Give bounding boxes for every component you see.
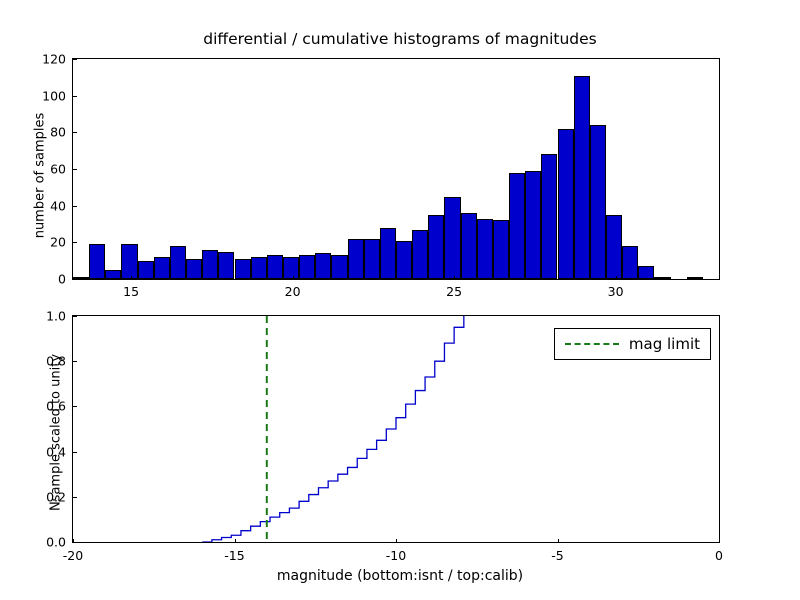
histogram-bar: [461, 213, 477, 279]
y-tick-mark: [73, 361, 77, 362]
y-tick-label: 60: [26, 162, 66, 177]
y-tick-label: 0.0: [26, 535, 66, 550]
histogram-bar: [412, 230, 428, 280]
histogram-bar: [202, 250, 218, 279]
y-tick-label: 120: [26, 52, 66, 67]
histogram-bar: [444, 197, 460, 280]
x-tick-mark: [131, 276, 132, 280]
x-tick-label: -5: [551, 548, 563, 563]
histogram-bar: [396, 241, 412, 280]
y-tick-label: 20: [26, 235, 66, 250]
y-tick-label: 0.4: [26, 444, 66, 459]
cumulative-histogram-axes: mag limit: [72, 315, 720, 543]
histogram-bar: [428, 215, 444, 279]
histogram-bar: [687, 277, 703, 279]
histogram-bar: [121, 244, 137, 279]
histogram-bar: [331, 255, 347, 279]
chart-title: differential / cumulative histograms of …: [0, 30, 800, 48]
histogram-bar: [89, 244, 105, 279]
histogram-bar: [283, 257, 299, 279]
histogram-bar: [622, 246, 638, 279]
y-tick-label: 0: [26, 272, 66, 287]
y-tick-mark: [73, 132, 77, 133]
y-tick-label: 40: [26, 198, 66, 213]
x-tick-label: -15: [224, 548, 244, 563]
legend-dash-icon: [565, 337, 619, 351]
y-tick-mark: [73, 497, 77, 498]
bottom-axis-ylabel: Nsample scaled to unity: [49, 313, 64, 553]
histogram-bar: [477, 219, 493, 280]
histogram-bar: [315, 253, 331, 279]
x-tick-label: -20: [63, 548, 83, 563]
x-tick-mark: [558, 539, 559, 543]
y-tick-mark: [73, 406, 77, 407]
histogram-bar: [235, 259, 251, 279]
x-tick-label: -10: [386, 548, 406, 563]
x-tick-mark: [616, 276, 617, 280]
histogram-bar: [170, 246, 186, 279]
y-tick-mark: [73, 206, 77, 207]
histogram-bar: [267, 255, 283, 279]
y-tick-mark: [73, 279, 77, 280]
histogram-bar: [606, 215, 622, 279]
y-tick-mark: [73, 542, 77, 543]
bottom-axis-xlabel: magnitude (bottom:isnt / top:calib): [0, 568, 800, 584]
y-tick-label: 0.6: [26, 399, 66, 414]
histogram-bar: [638, 266, 654, 279]
x-tick-label: 30: [608, 284, 624, 299]
histogram-bar: [541, 154, 557, 279]
histogram-bar: [380, 228, 396, 279]
legend-label-mag-limit: mag limit: [629, 335, 700, 353]
histogram-bar: [105, 270, 121, 279]
y-tick-label: 0.8: [26, 354, 66, 369]
y-tick-label: 100: [26, 88, 66, 103]
x-tick-mark: [719, 539, 720, 543]
y-tick-mark: [73, 59, 77, 60]
x-tick-mark: [293, 276, 294, 280]
x-tick-label: 20: [285, 284, 301, 299]
histogram-bar: [348, 239, 364, 279]
y-tick-label: 1.0: [26, 309, 66, 324]
histogram-bar: [186, 259, 202, 279]
histogram-bar: [509, 173, 525, 279]
histogram-bar: [590, 125, 606, 279]
histogram-bar: [574, 76, 590, 280]
histogram-bar: [558, 129, 574, 279]
figure: differential / cumulative histograms of …: [0, 0, 800, 600]
histogram-bar: [251, 257, 267, 279]
histogram-bar: [525, 171, 541, 279]
y-tick-label: 0.2: [26, 489, 66, 504]
y-tick-mark: [73, 316, 77, 317]
histogram-bar: [364, 239, 380, 279]
differential-histogram-axes: [72, 58, 720, 280]
histogram-bar: [218, 252, 234, 280]
histogram-bar: [493, 220, 509, 279]
x-tick-mark: [454, 276, 455, 280]
histogram-bar: [654, 277, 670, 279]
y-tick-mark: [73, 96, 77, 97]
x-tick-label: 0: [715, 548, 723, 563]
x-tick-mark: [396, 539, 397, 543]
x-tick-label: 25: [446, 284, 462, 299]
histogram-bar: [154, 257, 170, 279]
y-tick-mark: [73, 242, 77, 243]
cumulative-curve: [202, 316, 464, 542]
y-tick-label: 80: [26, 125, 66, 140]
y-tick-mark: [73, 452, 77, 453]
differential-histogram-plot: [73, 59, 719, 279]
histogram-bar: [299, 255, 315, 279]
x-tick-label: 15: [123, 284, 139, 299]
x-tick-mark: [235, 539, 236, 543]
legend: mag limit: [554, 328, 711, 360]
histogram-bar: [138, 261, 154, 279]
y-tick-mark: [73, 169, 77, 170]
